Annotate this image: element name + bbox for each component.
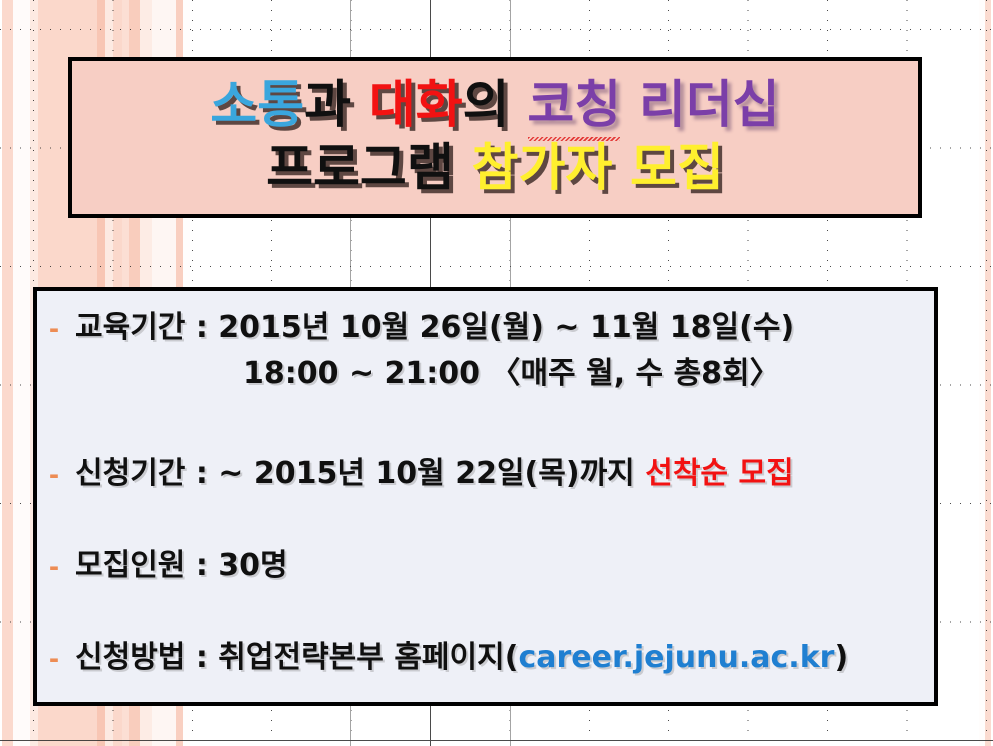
highlight-text: 선착순 모집 <box>645 456 793 491</box>
title-line-2-run-0: 프로그램 <box>266 139 471 198</box>
decorative-stripe-band-right <box>979 0 993 746</box>
title-line-1-run-2: 대화 <box>369 76 463 135</box>
body-text-run: 모집인원 : 30명 <box>75 548 288 583</box>
bullet-item-capacity: -모집인원 : 30명 <box>37 543 934 591</box>
title-box: 소통과 대화의 코칭 리더십 프로그램 참가자 모집 <box>68 57 922 218</box>
title-line-2-run-1: 참가자 모집 <box>472 139 724 198</box>
details-box: -교육기간 : 2015년 10월 26일(월) ~ 11월 18일(수)18:… <box>33 287 938 706</box>
title-line-1: 소통과 대화의 코칭 리더십 <box>210 75 779 137</box>
bullet-line-education-period-0: 교육기간 : 2015년 10월 26일(월) ~ 11월 18일(수) <box>75 305 934 351</box>
body-text-run: 신청방법 : 취업전략본부 홈페이지( <box>75 640 518 675</box>
bullet-dash-icon: - <box>49 451 75 499</box>
title-line-1-run-5: 리더십 <box>621 76 780 135</box>
title-line-1-run-4: 코칭 <box>527 76 621 135</box>
title-line-1-run-1: 과 <box>304 76 369 135</box>
title-line-1-run-3: 의 <box>463 76 528 135</box>
bullet-dash-icon: - <box>49 305 75 353</box>
bullet-spacer <box>37 591 934 635</box>
website-url-link[interactable]: career.jejunu.ac.kr <box>518 640 834 675</box>
bullet-line-application-period-0: 신청기간 : ~ 2015년 10월 22일(목)까지 선착순 모집 <box>75 451 934 497</box>
bullet-item-education-period: -교육기간 : 2015년 10월 26일(월) ~ 11월 18일(수)18:… <box>37 305 934 397</box>
bullet-item-application-period: -신청기간 : ~ 2015년 10월 22일(목)까지 선착순 모집 <box>37 451 934 499</box>
bullet-line-education-period-1: 18:00 ~ 21:00 〈매주 월, 수 총8회〉 <box>75 351 934 397</box>
spellcheck-underline: 코칭 <box>527 75 621 137</box>
body-text-run: 18:00 ~ 21:00 〈매주 월, 수 총8회〉 <box>243 356 780 391</box>
bullet-line-capacity-0: 모집인원 : 30명 <box>75 543 934 589</box>
title-line-1-run-0: 소통 <box>210 76 304 135</box>
bullet-dash-icon: - <box>49 635 75 683</box>
title-line-2: 프로그램 참가자 모집 <box>266 138 724 200</box>
bullet-line-how-to-apply-0: 신청방법 : 취업전략본부 홈페이지(career.jejunu.ac.kr) <box>75 635 934 681</box>
bullet-text-how-to-apply: 신청방법 : 취업전략본부 홈페이지(career.jejunu.ac.kr) <box>75 635 934 681</box>
bullet-text-education-period: 교육기간 : 2015년 10월 26일(월) ~ 11월 18일(수)18:0… <box>75 305 934 397</box>
bullet-spacer <box>37 397 934 451</box>
bullet-item-how-to-apply: -신청방법 : 취업전략본부 홈페이지(career.jejunu.ac.kr) <box>37 635 934 683</box>
body-text-run: 신청기간 : ~ 2015년 10월 22일(목)까지 <box>75 456 645 491</box>
body-text-run: ) <box>834 640 848 675</box>
slide-canvas: 소통과 대화의 코칭 리더십 프로그램 참가자 모집 -교육기간 : 2015년… <box>0 0 993 746</box>
bullet-dash-icon: - <box>49 543 75 591</box>
bullet-text-capacity: 모집인원 : 30명 <box>75 543 934 589</box>
body-text-run: 교육기간 : 2015년 10월 26일(월) ~ 11월 18일(수) <box>75 310 794 345</box>
bullet-spacer <box>37 499 934 543</box>
details-bullet-list: -교육기간 : 2015년 10월 26일(월) ~ 11월 18일(수)18:… <box>37 305 934 683</box>
bullet-text-application-period: 신청기간 : ~ 2015년 10월 22일(목)까지 선착순 모집 <box>75 451 934 497</box>
